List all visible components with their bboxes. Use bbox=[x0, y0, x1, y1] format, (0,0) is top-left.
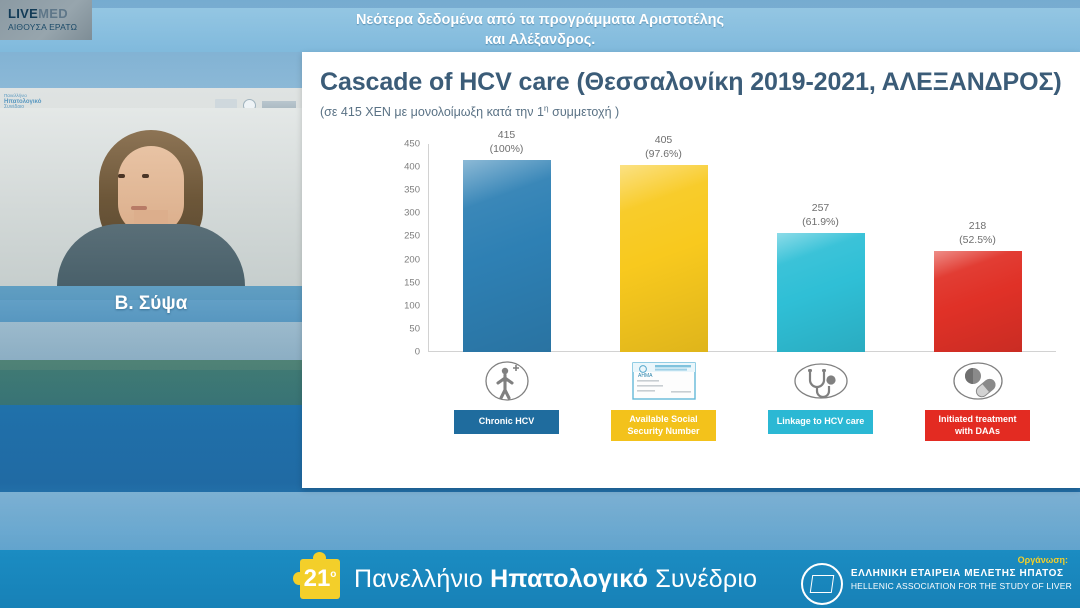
livemed-wordmark: LIVEMED bbox=[8, 6, 92, 21]
y-axis-tick: 350 bbox=[394, 185, 420, 196]
pills-icon bbox=[952, 360, 1004, 402]
organizer-block: Οργάνωση: ΕΛΛΗΝΙΚΗ ΕΤΑΙΡΕΙΑ ΜΕΛΕΤΗΣ ΗΠΑΤ… bbox=[801, 554, 1072, 605]
slide-subtitle-pre: (σε 415 ΧΕΝ με μονολοίμωξη κατά την 1 bbox=[320, 105, 544, 119]
y-axis-tick: 50 bbox=[394, 323, 420, 334]
id-card-icon: AHΜA bbox=[631, 358, 697, 404]
association-name-greek: ΕΛΛΗΝΙΚΗ ΕΤΑΙΡΕΙΑ ΜΕΛΕΤΗΣ ΗΠΑΤΟΣ bbox=[851, 568, 1072, 580]
bar-value-label: 415(100%) bbox=[490, 128, 524, 156]
category-column: Initiated treatment with DAAs bbox=[899, 358, 1056, 441]
association-name: ΕΛΛΗΝΙΚΗ ΕΤΑΙΡΕΙΑ ΜΕΛΕΤΗΣ ΗΠΑΤΟΣ HELLENI… bbox=[851, 568, 1072, 592]
chart-bar bbox=[463, 160, 551, 352]
bar-value: 257 bbox=[802, 201, 839, 215]
presentation-slide[interactable]: Cascade of HCV care (Θεσσαλονίκη 2019-20… bbox=[302, 52, 1080, 488]
conference-word3: Συνέδριο bbox=[655, 565, 757, 593]
id-card-icon: AHΜA bbox=[631, 360, 697, 402]
organizer-label: Οργάνωση: bbox=[1018, 555, 1068, 565]
bar-value: 415 bbox=[490, 128, 524, 142]
bar-slot: 257(61.9%) bbox=[742, 144, 899, 352]
chart-bar bbox=[777, 233, 865, 352]
speaker-name-banner: Β. Σύψα bbox=[0, 286, 302, 322]
speaker-eye-left bbox=[118, 174, 125, 178]
y-axis-tick: 150 bbox=[394, 277, 420, 288]
bar-percent: (61.9%) bbox=[802, 215, 839, 229]
pills-icon bbox=[952, 358, 1004, 404]
chart-bar bbox=[620, 165, 708, 352]
category-row: Chronic HCV AHΜA Available Social Securi… bbox=[428, 358, 1056, 476]
bar-value-label: 405(97.6%) bbox=[645, 133, 682, 161]
category-column: Chronic HCV bbox=[428, 358, 585, 434]
slide-subtitle: (σε 415 ΧΕΝ με μονολοίμωξη κατά την 1η σ… bbox=[320, 103, 1066, 119]
slide-title: Cascade of HCV care (Θεσσαλονίκη 2019-20… bbox=[320, 68, 1066, 97]
conference-logo: 21o Πανελλήνιο Ηπατολογικό Συνέδριο bbox=[300, 559, 757, 599]
category-label-chip: Linkage to HCV care bbox=[768, 410, 873, 434]
puzzle-piece-icon: 21o bbox=[300, 559, 340, 599]
category-column: AHΜA Available Social Security Number bbox=[585, 358, 742, 441]
y-axis-tick: 0 bbox=[394, 347, 420, 358]
bar-slot: 415(100%) bbox=[428, 144, 585, 352]
bar-value: 218 bbox=[959, 219, 996, 233]
category-label-chip: Available Social Security Number bbox=[611, 410, 716, 441]
person-plus-icon bbox=[484, 360, 530, 402]
bar-value-label: 257(61.9%) bbox=[802, 201, 839, 229]
speaker-name: Β. Σύψα bbox=[115, 293, 188, 315]
conference-word1: Πανελλήνιο bbox=[354, 565, 483, 593]
speaker-torso bbox=[57, 224, 245, 286]
edition-ordinal: o bbox=[330, 569, 336, 580]
conference-name: Πανελλήνιο Ηπατολογικό Συνέδριο bbox=[354, 565, 757, 594]
speaker-video-panel[interactable]: Πανελλήνιο Ηπατολογικό Συνέδριο bbox=[0, 88, 302, 286]
bar-slot: 218(52.5%) bbox=[899, 144, 1056, 352]
y-axis: 450400350300250200150100500 bbox=[394, 144, 424, 352]
category-label-chip: Chronic HCV bbox=[454, 410, 559, 434]
stethoscope-icon bbox=[793, 358, 849, 404]
person-plus-icon bbox=[484, 358, 530, 404]
hasl-seal-icon bbox=[801, 563, 843, 605]
bar-percent: (97.6%) bbox=[645, 147, 682, 161]
speaker-webcam-image bbox=[0, 108, 302, 286]
bar-slot: 405(97.6%) bbox=[585, 144, 742, 352]
livemed-room-label: ΑΙΘΟΥΣΑ ΕΡΑΤΩ bbox=[8, 22, 92, 32]
session-title-line1: Νεότερα δεδομένα από τα προγράμματα Αρισ… bbox=[356, 10, 724, 30]
y-axis-tick: 400 bbox=[394, 162, 420, 173]
slide-subtitle-post: συμμετοχή ) bbox=[549, 105, 620, 119]
association-name-english: HELLENIC ASSOCIATION FOR THE STUDY OF LI… bbox=[851, 580, 1072, 592]
hasl-seal-inner bbox=[810, 575, 835, 593]
bar-percent: (52.5%) bbox=[959, 233, 996, 247]
conference-footer: 21o Πανελλήνιο Ηπατολογικό Συνέδριο Οργά… bbox=[0, 550, 1080, 608]
bar-value: 405 bbox=[645, 133, 682, 147]
edition-number: 21o bbox=[304, 567, 337, 591]
livemed-logo[interactable]: LIVEMED ΑΙΘΟΥΣΑ ΕΡΑΤΩ bbox=[0, 0, 92, 40]
y-axis-tick: 200 bbox=[394, 254, 420, 265]
y-axis-tick: 300 bbox=[394, 208, 420, 219]
session-title-bar: Νεότερα δεδομένα από τα προγράμματα Αρισ… bbox=[0, 8, 1080, 52]
bar-group: 415(100%)405(97.6%)257(61.9%)218(52.5%) bbox=[428, 144, 1056, 352]
livemed-med-text: MED bbox=[38, 6, 68, 21]
category-column: Linkage to HCV care bbox=[742, 358, 899, 434]
speaker-eye-right bbox=[142, 174, 149, 178]
y-axis-tick: 250 bbox=[394, 231, 420, 242]
chart-bar bbox=[934, 251, 1022, 352]
y-axis-tick: 450 bbox=[394, 139, 420, 150]
session-title-line2: και Αλέξανδρος. bbox=[485, 30, 596, 50]
bar-value-label: 218(52.5%) bbox=[959, 219, 996, 247]
conference-word2: Ηπατολογικό bbox=[490, 565, 648, 593]
category-label-chip: Initiated treatment with DAAs bbox=[925, 410, 1030, 441]
bar-chart: 450400350300250200150100500 415(100%)405… bbox=[394, 144, 1056, 384]
bar-percent: (100%) bbox=[490, 142, 524, 156]
livemed-live-text: LIVE bbox=[8, 6, 38, 21]
y-axis-tick: 100 bbox=[394, 300, 420, 311]
stethoscope-icon bbox=[793, 360, 849, 402]
svg-text:AHΜA: AHΜA bbox=[638, 373, 653, 379]
